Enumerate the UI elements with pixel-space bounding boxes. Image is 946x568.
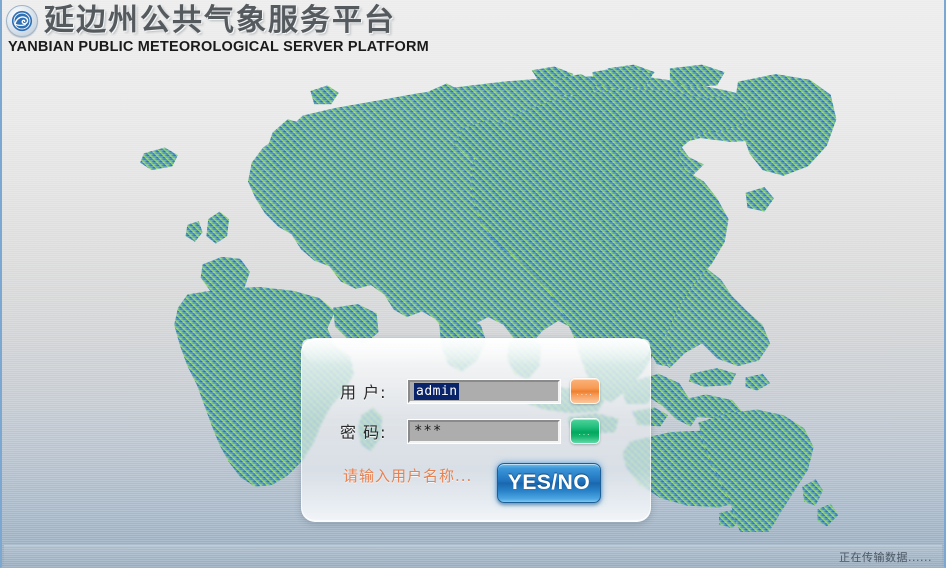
page-title-en: YANBIAN PUBLIC METEOROLOGICAL SERVER PLA…	[8, 39, 429, 55]
swirl-cloud-icon	[6, 5, 38, 37]
submit-button[interactable]: YES/NO	[497, 463, 601, 503]
brand-row: 延边州公共气象服务平台	[6, 4, 429, 38]
password-row: 密 码: *** ...	[340, 418, 600, 444]
green-action-icon[interactable]: ...	[570, 418, 600, 444]
username-value: admin	[414, 383, 459, 400]
status-bar: 正在传输数据......	[4, 545, 942, 567]
green-action-dots: ...	[571, 429, 599, 437]
password-label: 密 码:	[340, 419, 408, 443]
page-header: 延边州公共气象服务平台 YANBIAN PUBLIC METEOROLOGICA…	[2, 0, 429, 55]
orange-action-dots: ....	[571, 389, 599, 397]
username-input[interactable]: admin	[408, 380, 560, 403]
status-text: 正在传输数据......	[839, 549, 932, 565]
login-panel: 用 户: admin .... 密 码: *** ... 请输入用户名称... …	[301, 338, 651, 522]
username-row: 用 户: admin ....	[340, 378, 600, 404]
page-title-cn: 延边州公共气象服务平台	[44, 4, 396, 38]
application-window: 延边州公共气象服务平台 YANBIAN PUBLIC METEOROLOGICA…	[0, 0, 946, 568]
orange-action-icon[interactable]: ....	[570, 378, 600, 404]
validation-hint: 请输入用户名称...	[343, 465, 472, 486]
password-input[interactable]: ***	[408, 420, 560, 443]
password-value: ***	[414, 423, 442, 439]
username-label: 用 户:	[340, 379, 408, 403]
